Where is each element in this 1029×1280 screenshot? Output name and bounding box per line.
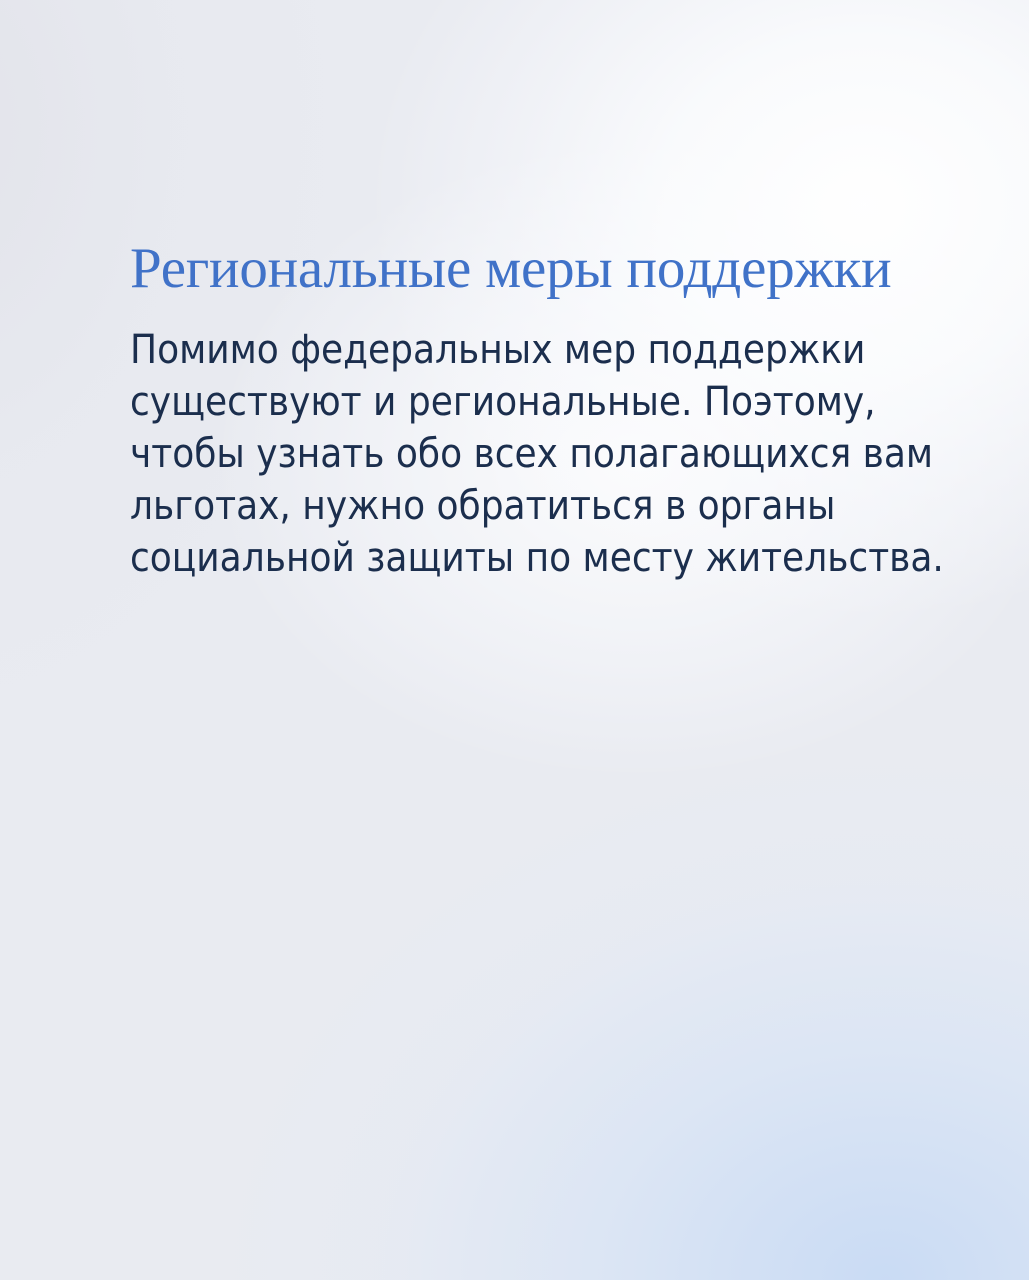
- background-right-highlight: [0, 0, 1029, 1280]
- text-block: Региональные меры поддержки Помимо федер…: [130, 238, 990, 584]
- background-blue-bottom-glow: [0, 0, 1029, 1280]
- slide-body-text: Помимо федеральных мер поддержки существ…: [130, 300, 970, 584]
- background-center-highlight: [0, 0, 1029, 1280]
- background-grey-left-glow: [0, 0, 1029, 1280]
- slide-headline: Региональные меры поддержки: [130, 238, 990, 300]
- background-base-gradient: [0, 0, 1029, 1280]
- slide-canvas: Региональные меры поддержки Помимо федер…: [0, 0, 1029, 1280]
